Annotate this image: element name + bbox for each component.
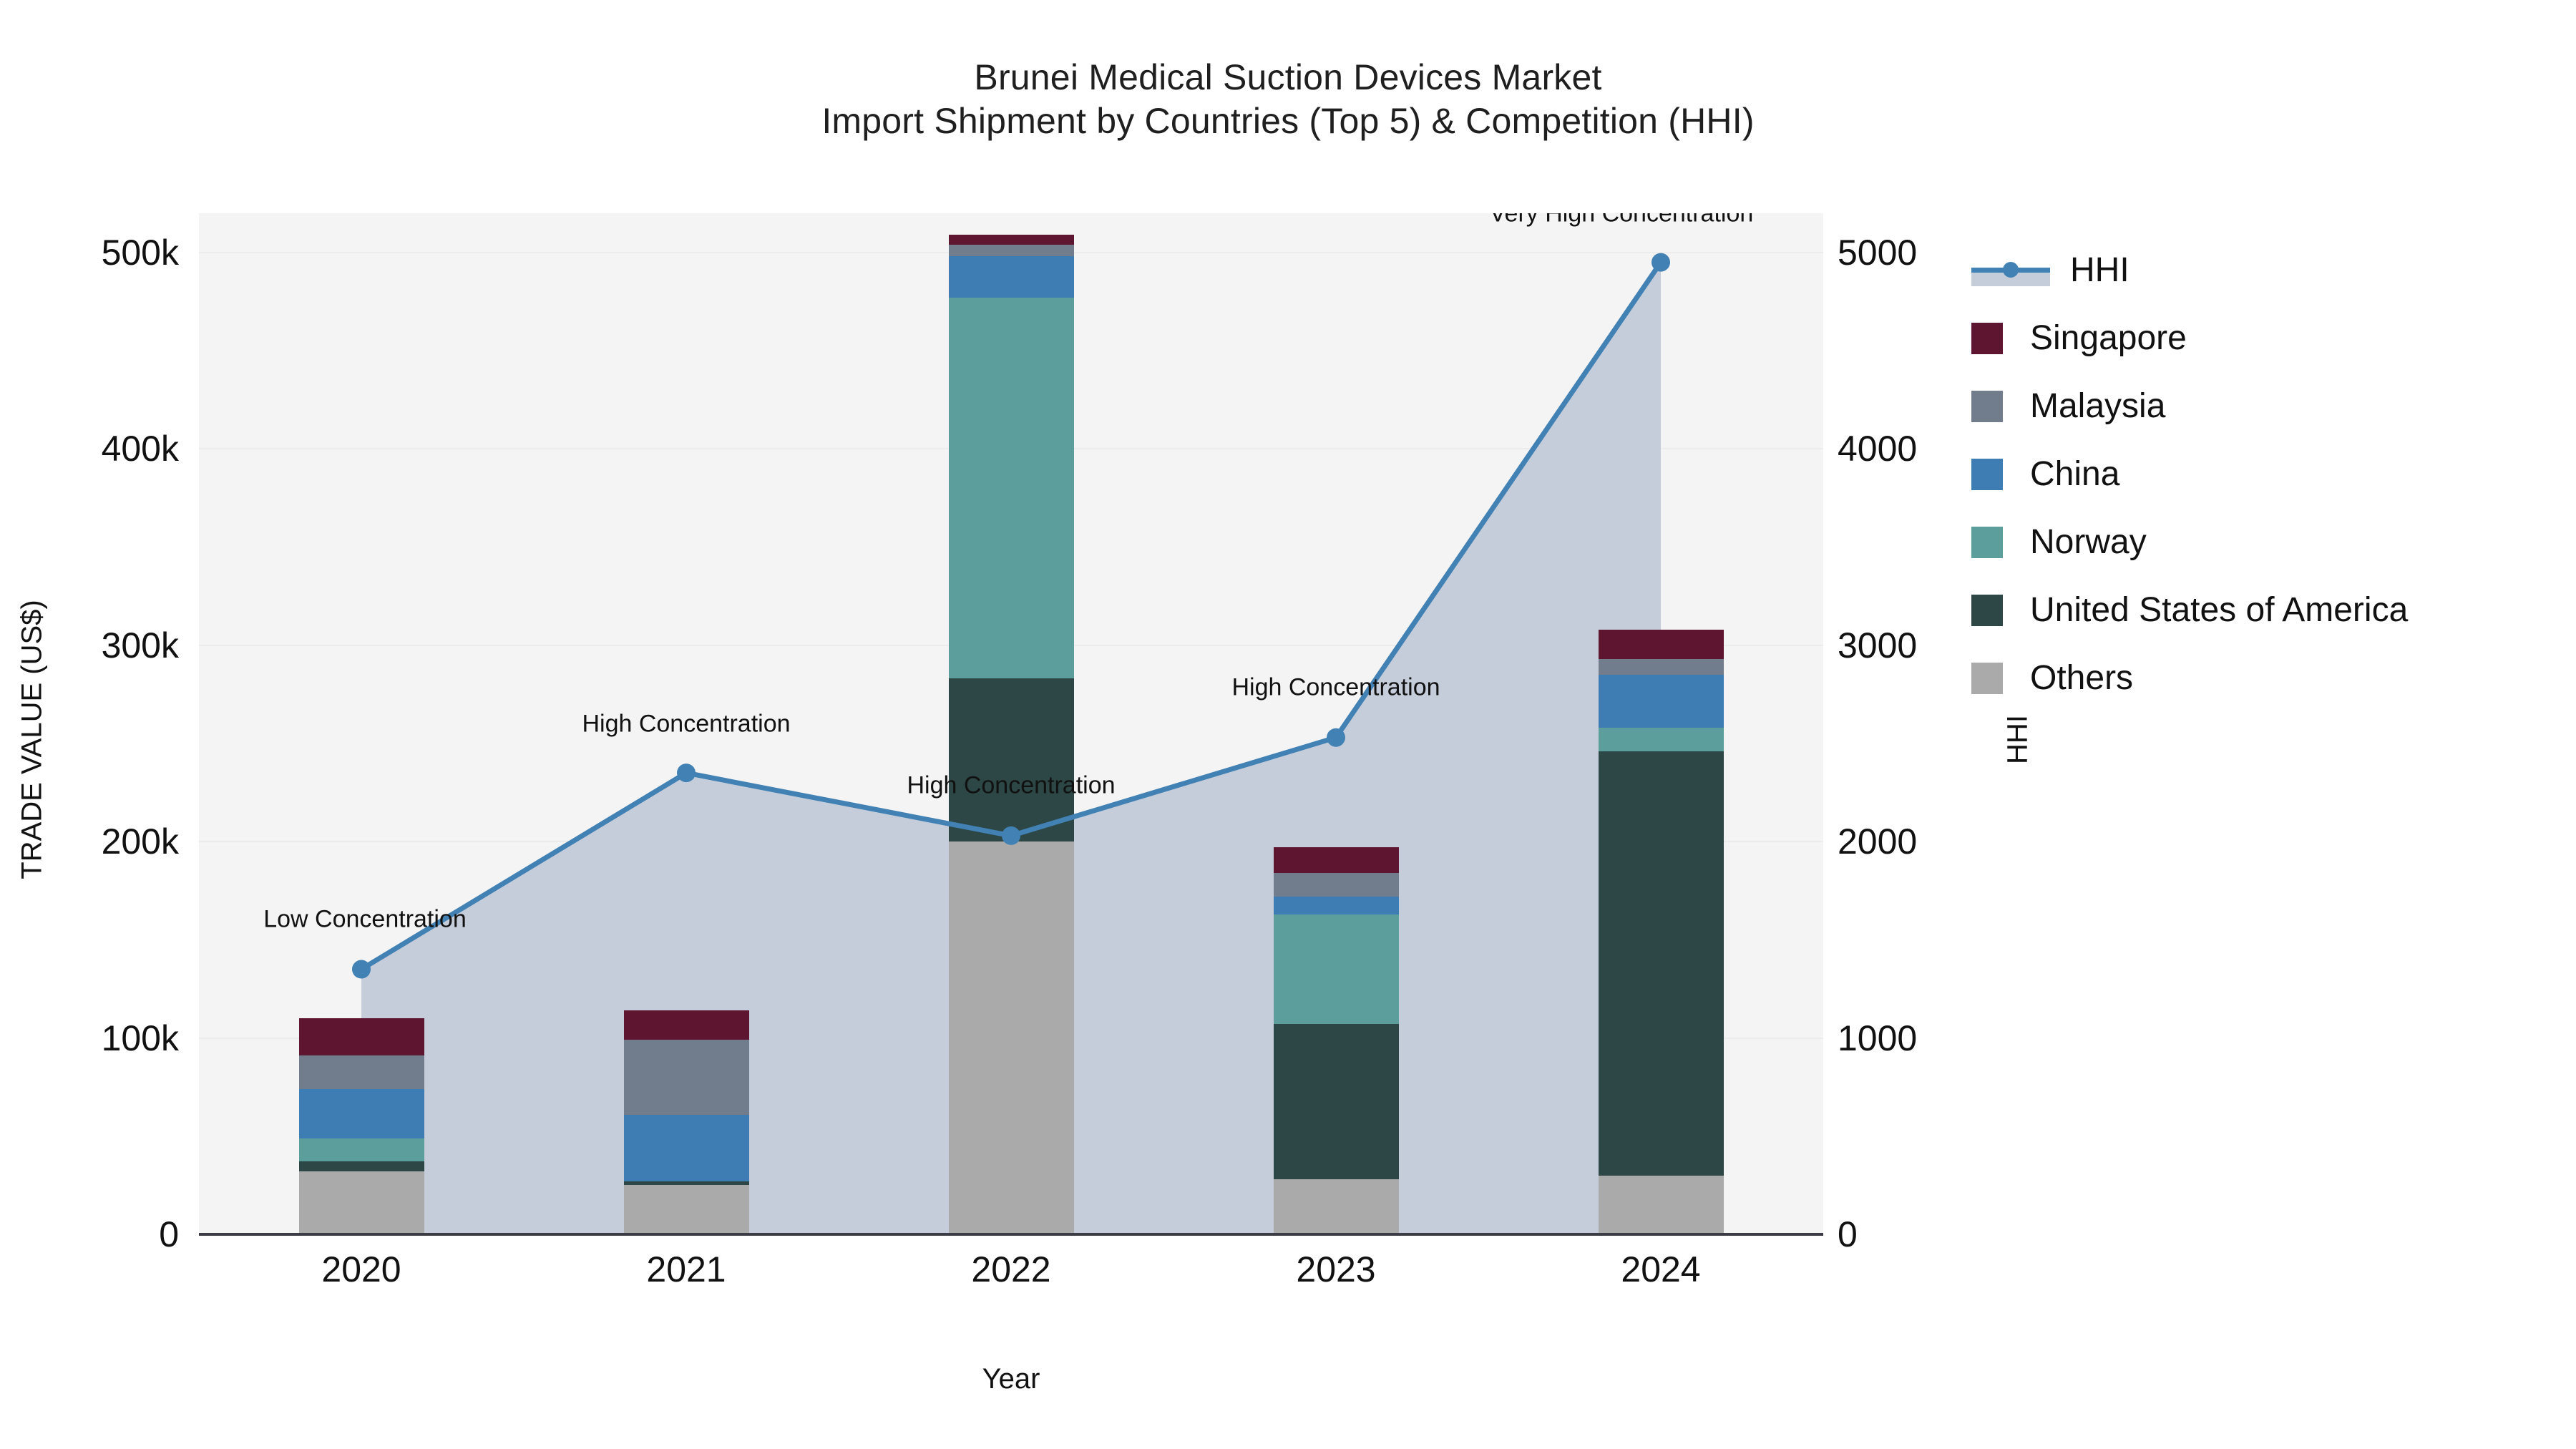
y-axis-left-tick-label: 500k: [102, 232, 179, 273]
legend-color-swatch: [1971, 527, 2003, 558]
hhi-annotation-2020: Low Concentration: [263, 905, 467, 933]
x-axis-ticks: 20202021202220232024: [199, 1249, 1823, 1313]
hhi-marker[interactable]: [1652, 253, 1670, 272]
y-axis-left-tick-label: 0: [159, 1214, 179, 1255]
x-axis-tick-label-2020: 2020: [321, 1249, 401, 1290]
legend-item-label: Others: [2030, 658, 2133, 698]
y-axis-right-tick-label: 4000: [1838, 428, 1917, 469]
legend-item-label: Malaysia: [2030, 386, 2165, 426]
legend-item-others[interactable]: Others: [1971, 644, 2565, 712]
legend-item-label: Norway: [2030, 522, 2147, 562]
plot-inner: Low ConcentrationHigh ConcentrationHigh …: [199, 213, 1823, 1234]
y-axis-right-tick-label: 1000: [1838, 1018, 1917, 1059]
legend-color-swatch: [1971, 459, 2003, 490]
legend-color-swatch: [1971, 663, 2003, 694]
y-axis-left-tick-label: 200k: [102, 821, 179, 862]
legend-line-marker-icon: [1971, 255, 2050, 286]
y-axis-left-title: TRADE VALUE (US$): [16, 540, 49, 940]
legend-color-swatch: [1971, 323, 2003, 354]
legend-item-singapore[interactable]: Singapore: [1971, 304, 2565, 372]
chart-root: Brunei Medical Suction Devices Market Im…: [0, 0, 2576, 1449]
hhi-annotation-2023: High Concentration: [1231, 673, 1440, 701]
x-axis-spine: [199, 1233, 1823, 1236]
legend-item-china[interactable]: China: [1971, 440, 2565, 508]
hhi-marker[interactable]: [677, 763, 696, 782]
hhi-marker[interactable]: [1327, 728, 1345, 747]
hhi-line-layer: [199, 213, 1823, 1234]
legend-item-label: China: [2030, 454, 2119, 494]
y-axis-right-tick-label: 3000: [1838, 625, 1917, 666]
chart-title-line-2: Import Shipment by Countries (Top 5) & C…: [0, 99, 2576, 143]
legend-line-dot: [2003, 262, 2019, 278]
legend-color-swatch: [1971, 595, 2003, 626]
legend-item-norway[interactable]: Norway: [1971, 508, 2565, 576]
hhi-marker[interactable]: [352, 960, 371, 979]
chart-title: Brunei Medical Suction Devices Market Im…: [0, 56, 2576, 143]
x-axis-tick-label-2023: 2023: [1296, 1249, 1375, 1290]
y-axis-right-tick-label: 2000: [1838, 821, 1917, 862]
y-axis-left-tick-label: 400k: [102, 428, 179, 469]
x-axis-tick-label-2024: 2024: [1621, 1249, 1700, 1290]
y-axis-left-tick-label: 300k: [102, 625, 179, 666]
y-axis-right-tick-label: 0: [1838, 1214, 1858, 1255]
chart-title-line-1: Brunei Medical Suction Devices Market: [0, 56, 2576, 99]
legend-item-label: HHI: [2070, 250, 2129, 290]
hhi-marker[interactable]: [1002, 826, 1020, 845]
plot-area: Low ConcentrationHigh ConcentrationHigh …: [199, 213, 1823, 1234]
hhi-line: [361, 263, 1661, 970]
legend-item-label: Singapore: [2030, 318, 2187, 358]
legend-item-united-states-of-america[interactable]: United States of America: [1971, 576, 2565, 644]
chart-legend: HHISingaporeMalaysiaChinaNorwayUnited St…: [1971, 236, 2565, 712]
y-axis-left-tick-label: 100k: [102, 1018, 179, 1059]
legend-item-malaysia[interactable]: Malaysia: [1971, 372, 2565, 440]
x-axis-tick-label-2022: 2022: [971, 1249, 1050, 1290]
legend-color-swatch: [1971, 391, 2003, 422]
hhi-annotation-2021: High Concentration: [582, 711, 790, 738]
x-axis-title: Year: [199, 1363, 1823, 1395]
hhi-annotation-2024: Very High Concentration: [1490, 213, 1754, 228]
legend-item-hhi[interactable]: HHI: [1971, 236, 2565, 304]
legend-item-label: United States of America: [2030, 590, 2408, 630]
y-axis-right-tick-label: 5000: [1838, 232, 1917, 273]
x-axis-tick-label-2021: 2021: [646, 1249, 726, 1290]
hhi-annotation-2022: High Concentration: [907, 771, 1115, 799]
